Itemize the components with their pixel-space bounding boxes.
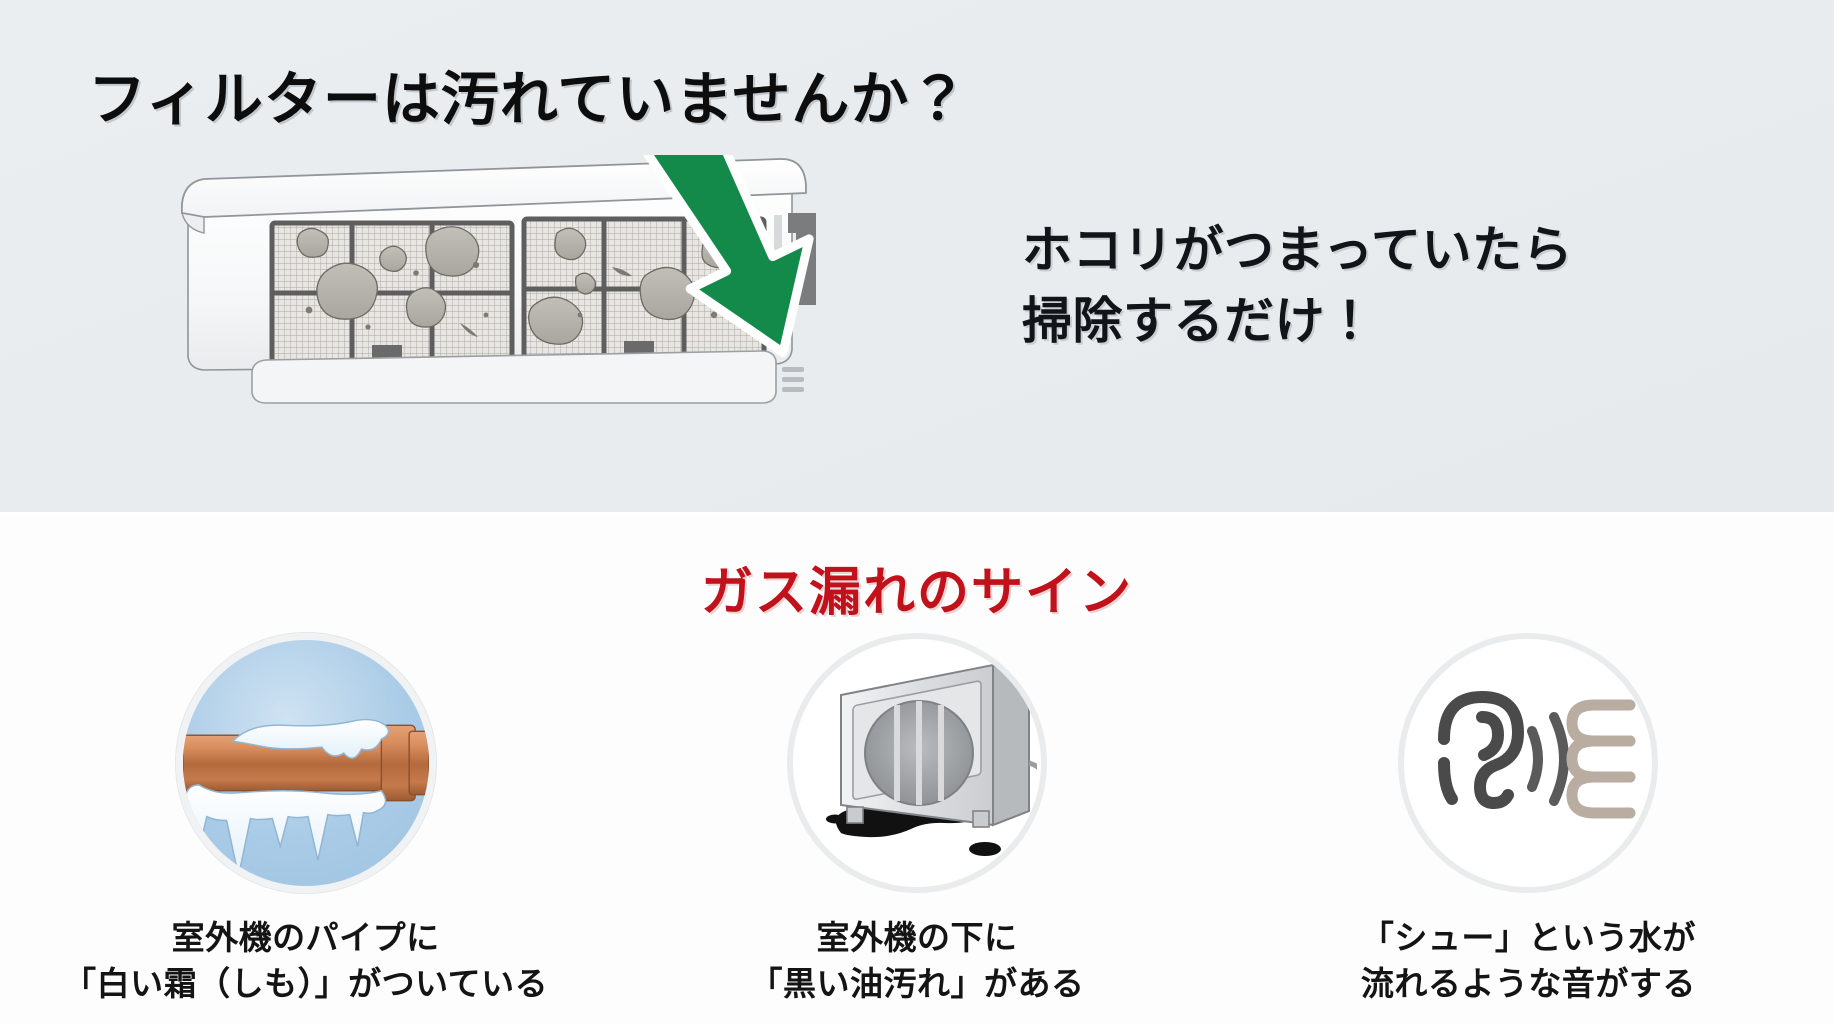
frozen-pipe-svg bbox=[183, 639, 429, 887]
page-title: フィルターは汚れていませんか？ bbox=[88, 52, 968, 136]
outdoor-unit-oil-leak-icon bbox=[787, 633, 1047, 893]
ear-hearing-hissing-sound-icon bbox=[1398, 633, 1658, 893]
caption-line-1: 室外機の下に bbox=[749, 915, 1084, 961]
caption-line-2: 流れるような音がする bbox=[1361, 961, 1696, 1007]
side-copy-line-1: ホコリがつまっていたら bbox=[1022, 215, 1573, 286]
outdoor-unit-body bbox=[841, 665, 1037, 827]
fan-grille bbox=[865, 701, 973, 805]
infographic-page: フィルターは汚れていませんか？ bbox=[0, 0, 1834, 1024]
sound-waves-icon bbox=[1532, 717, 1564, 801]
gas-leak-signs-section: ガス漏れのサイン bbox=[0, 515, 1834, 1024]
icicles bbox=[184, 785, 385, 876]
ear-sound-svg bbox=[1408, 643, 1648, 883]
coiled-pipe-icon bbox=[1572, 705, 1630, 813]
ac-indicator-lights bbox=[782, 367, 804, 392]
caption-line-1: 「シュー」という水が bbox=[1361, 915, 1696, 961]
side-copy-line-2: 掃除するだけ！ bbox=[1022, 286, 1573, 357]
caption-line-1: 室外機のパイプに bbox=[63, 915, 548, 961]
ear-icon bbox=[1444, 697, 1518, 803]
caption-line-2: 「白い霜（しも）」がついている bbox=[63, 961, 548, 1007]
sign-card-hissing-sound: 「シュー」という水が 流れるような音がする bbox=[1268, 633, 1788, 1006]
dirty-filter-illustration bbox=[176, 155, 816, 405]
filter-check-section: フィルターは汚れていませんか？ bbox=[0, 0, 1834, 512]
gas-leak-heading: ガス漏れのサイン bbox=[0, 550, 1834, 625]
outdoor-unit-svg bbox=[797, 643, 1037, 883]
ac-air-louver bbox=[252, 351, 776, 403]
sign-caption-oil-leak: 室外機の下に 「黒い油汚れ」がある bbox=[749, 915, 1084, 1006]
signs-row: 室外機のパイプに 「白い霜（しも）」がついている bbox=[0, 633, 1834, 1006]
caption-line-2: 「黒い油汚れ」がある bbox=[749, 961, 1084, 1007]
frozen-copper-pipe-icon bbox=[176, 633, 436, 893]
air-conditioner-svg bbox=[176, 155, 816, 405]
sign-caption-hissing-sound: 「シュー」という水が 流れるような音がする bbox=[1361, 915, 1696, 1006]
sign-card-oil-leak: 室外機の下に 「黒い油汚れ」がある bbox=[657, 633, 1177, 1006]
side-instruction-text: ホコリがつまっていたら 掃除するだけ！ bbox=[1022, 215, 1573, 357]
sign-card-frozen-pipe: 室外機のパイプに 「白い霜（しも）」がついている bbox=[46, 633, 566, 1006]
sign-caption-frozen-pipe: 室外機のパイプに 「白い霜（しも）」がついている bbox=[63, 915, 548, 1006]
